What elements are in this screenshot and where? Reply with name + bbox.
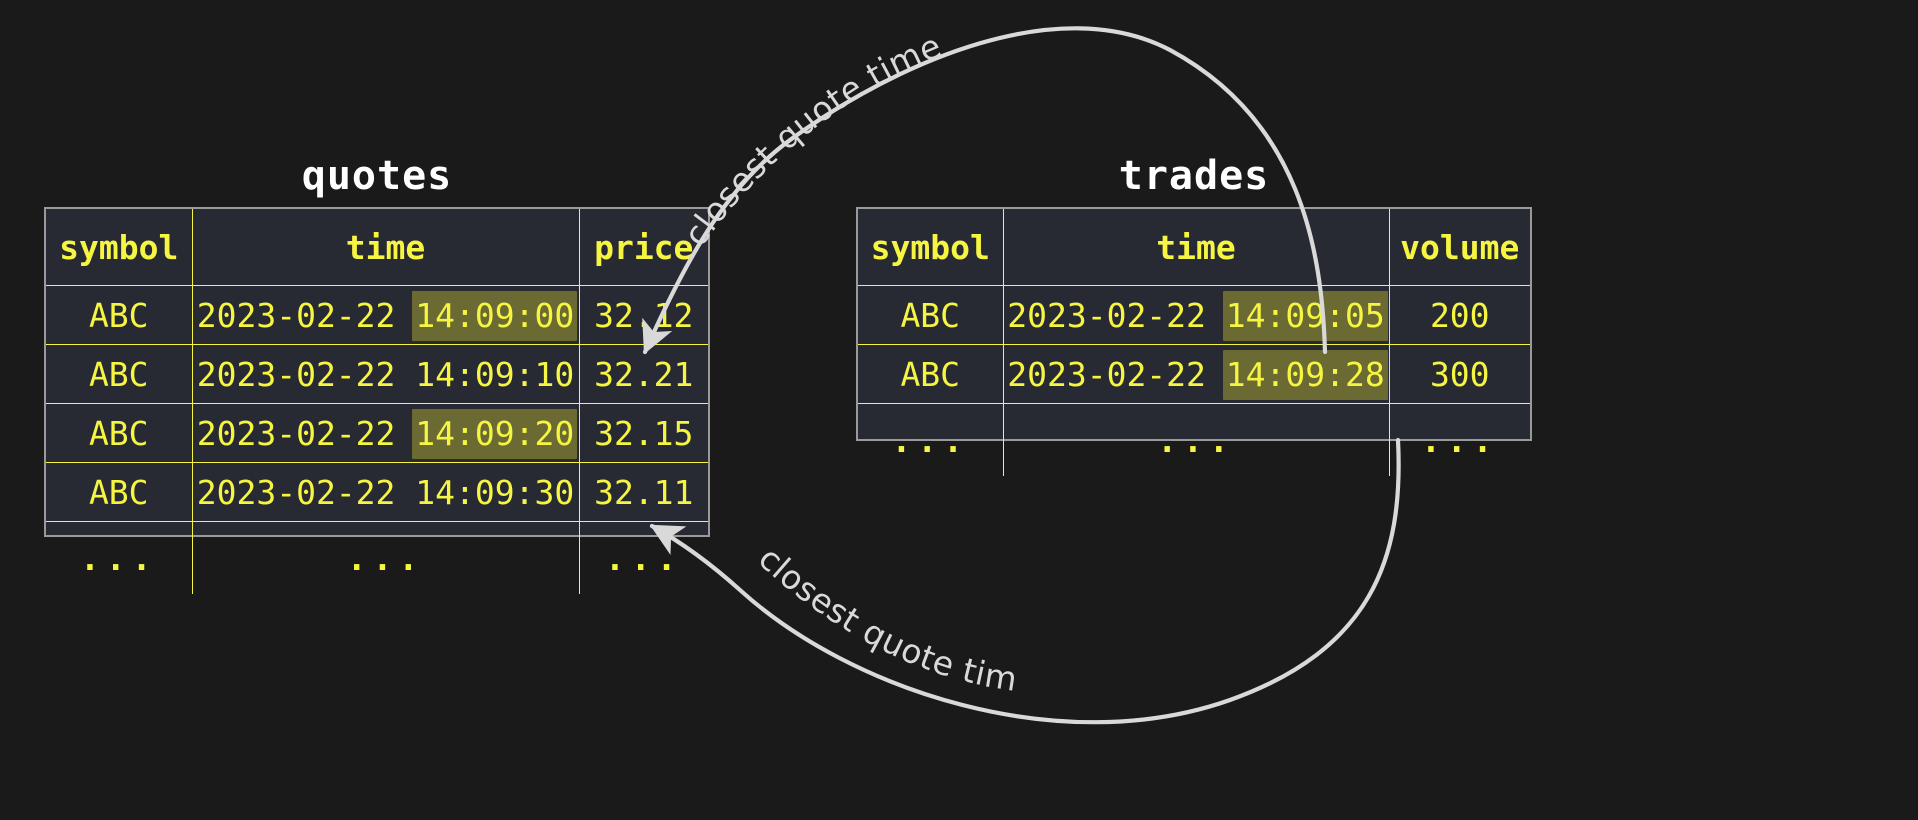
- quotes-cell-price-ellipsis: ...: [579, 522, 708, 595]
- quotes-header-symbol: symbol: [46, 209, 192, 286]
- trades-cell-symbol: ABC: [858, 286, 1003, 345]
- quotes-body: ABC 2023-02-22 14:09:00 32.12 ABC 2023-0…: [46, 286, 708, 595]
- quotes-cell-date: 2023-02-22: [197, 296, 396, 335]
- quotes-cell-price: 32.15: [579, 404, 708, 463]
- trades-header-volume: volume: [1389, 209, 1530, 286]
- trades-cell-volume: 300: [1389, 345, 1530, 404]
- quotes-header-price: price: [579, 209, 708, 286]
- table-row: ABC 2023-02-22 14:09:10 32.21: [46, 345, 708, 404]
- table-row: ABC 2023-02-22 14:09:28 300: [858, 345, 1530, 404]
- quotes-cell-symbol: ABC: [46, 286, 192, 345]
- quotes-cell-time: 2023-02-22 14:09:10: [192, 345, 579, 404]
- quotes-cell-time-value: 14:09:10: [415, 355, 574, 394]
- quotes-cell-time-highlight: 14:09:00: [412, 291, 577, 341]
- quotes-cell-time: 2023-02-22 14:09:30: [192, 463, 579, 522]
- quotes-cell-symbol: ABC: [46, 404, 192, 463]
- quotes-cell-date: 2023-02-22: [197, 414, 396, 453]
- table-row: ABC 2023-02-22 14:09:20 32.15: [46, 404, 708, 463]
- trades-cell-volume: 200: [1389, 286, 1530, 345]
- trades-cell-date: 2023-02-22: [1007, 296, 1206, 335]
- trades-cell-time-highlight: 14:09:05: [1223, 291, 1388, 341]
- trades-header-time: time: [1003, 209, 1389, 286]
- quotes-cell-price: 32.12: [579, 286, 708, 345]
- quotes-cell-symbol-ellipsis: ...: [46, 522, 192, 595]
- trades-cell-time: 2023-02-22 14:09:05: [1003, 286, 1389, 345]
- quotes-cell-time: 2023-02-22 14:09:00: [192, 286, 579, 345]
- quotes-cell-date: 2023-02-22: [197, 355, 396, 394]
- table-row-ellipsis: ... ... ...: [858, 404, 1530, 477]
- trades-body: ABC 2023-02-22 14:09:05 200 ABC 2023-02-…: [858, 286, 1530, 477]
- arrow-path-bottom: [652, 440, 1399, 722]
- trades-cell-time: 2023-02-22 14:09:28: [1003, 345, 1389, 404]
- quotes-cell-symbol: ABC: [46, 463, 192, 522]
- quotes-table-title: quotes: [44, 153, 710, 199]
- quotes-cell-time-value: 14:09:30: [415, 473, 574, 512]
- trades-cell-date: 2023-02-22: [1007, 355, 1206, 394]
- quotes-header-time: time: [192, 209, 579, 286]
- trades-header-symbol: symbol: [858, 209, 1003, 286]
- quotes-cell-time-ellipsis: ...: [192, 522, 579, 595]
- table-row: ABC 2023-02-22 14:09:05 200: [858, 286, 1530, 345]
- quotes-header-row: symbol time price: [46, 209, 708, 286]
- trades-cell-volume-ellipsis: ...: [1389, 404, 1530, 477]
- quotes-cell-time-highlight: 14:09:20: [412, 409, 577, 459]
- quotes-cell-time: 2023-02-22 14:09:20: [192, 404, 579, 463]
- diagram-canvas: quotes symbol time price ABC 2023-02-22 …: [0, 0, 1918, 820]
- table-row-ellipsis: ... ... ...: [46, 522, 708, 595]
- trades-cell-time-ellipsis: ...: [1003, 404, 1389, 477]
- quotes-grid: symbol time price ABC 2023-02-22 14:09:0…: [46, 209, 708, 594]
- trades-cell-symbol: ABC: [858, 345, 1003, 404]
- quotes-cell-symbol: ABC: [46, 345, 192, 404]
- quotes-cell-price: 32.21: [579, 345, 708, 404]
- quotes-table: symbol time price ABC 2023-02-22 14:09:0…: [44, 207, 710, 537]
- trades-table: symbol time volume ABC 2023-02-22 14:09:…: [856, 207, 1532, 441]
- trades-header-row: symbol time volume: [858, 209, 1530, 286]
- trades-cell-symbol-ellipsis: ...: [858, 404, 1003, 477]
- trades-table-title: trades: [856, 153, 1532, 199]
- table-row: ABC 2023-02-22 14:09:00 32.12: [46, 286, 708, 345]
- trades-grid: symbol time volume ABC 2023-02-22 14:09:…: [858, 209, 1530, 476]
- quotes-cell-date: 2023-02-22: [197, 473, 396, 512]
- quotes-cell-price: 32.11: [579, 463, 708, 522]
- table-row: ABC 2023-02-22 14:09:30 32.11: [46, 463, 708, 522]
- trades-cell-time-highlight: 14:09:28: [1223, 350, 1388, 400]
